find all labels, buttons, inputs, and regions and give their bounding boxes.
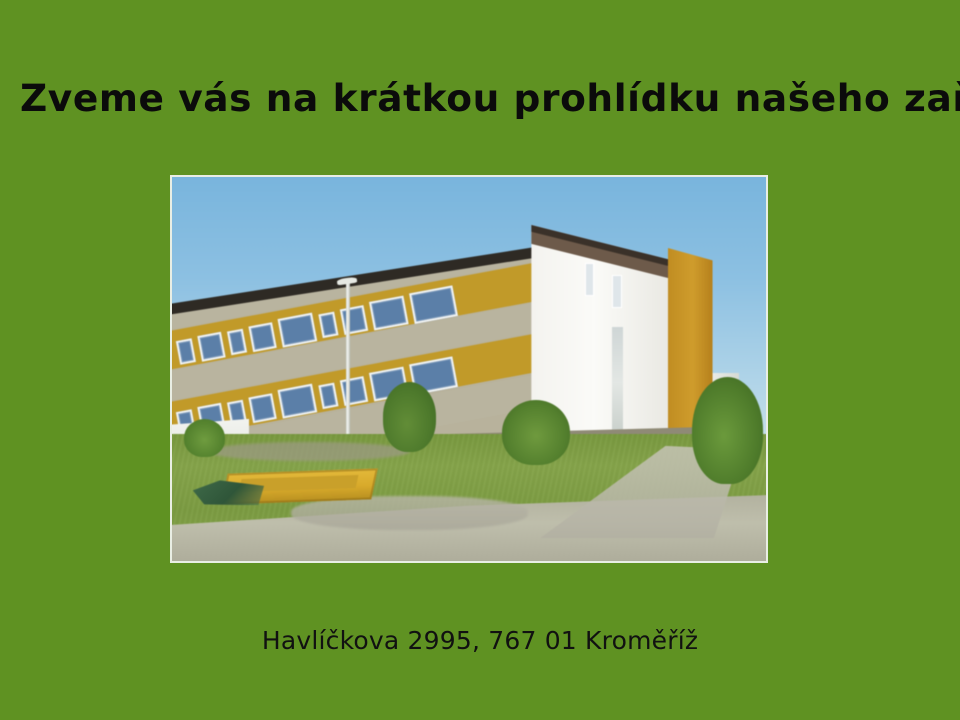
window xyxy=(340,376,369,406)
gable-window xyxy=(612,275,622,308)
window xyxy=(340,246,369,261)
window xyxy=(318,311,338,338)
photo-canvas xyxy=(172,177,766,561)
window xyxy=(227,328,247,355)
stairwell-glazing-slot xyxy=(612,327,624,438)
window xyxy=(197,257,226,287)
shrub xyxy=(692,377,763,485)
page-title: Zveme vás na krátkou prohlídku našeho za… xyxy=(20,72,940,130)
window xyxy=(248,248,277,278)
window xyxy=(318,383,338,410)
window xyxy=(176,338,196,365)
window xyxy=(248,322,277,352)
window xyxy=(278,246,317,274)
presentation-slide: Zveme vás na krátkou prohlídku našeho za… xyxy=(0,0,960,720)
shrub xyxy=(383,382,436,451)
shrub xyxy=(502,400,570,465)
window xyxy=(176,264,196,291)
window xyxy=(409,246,457,250)
window xyxy=(340,305,369,335)
path-gravel-patch xyxy=(291,496,529,531)
window xyxy=(248,393,277,423)
page-title-text: Zveme vás na krátkou prohlídku našeho za… xyxy=(20,76,960,120)
building-photo xyxy=(170,175,768,563)
shrub xyxy=(184,419,226,457)
bare-dirt-patch xyxy=(208,442,410,461)
gable-window xyxy=(585,263,595,296)
window xyxy=(369,246,408,256)
address-caption: Havlíčkova 2995, 767 01 Kroměříž xyxy=(0,624,960,658)
window xyxy=(227,254,247,281)
window xyxy=(197,331,226,361)
window xyxy=(318,246,338,264)
